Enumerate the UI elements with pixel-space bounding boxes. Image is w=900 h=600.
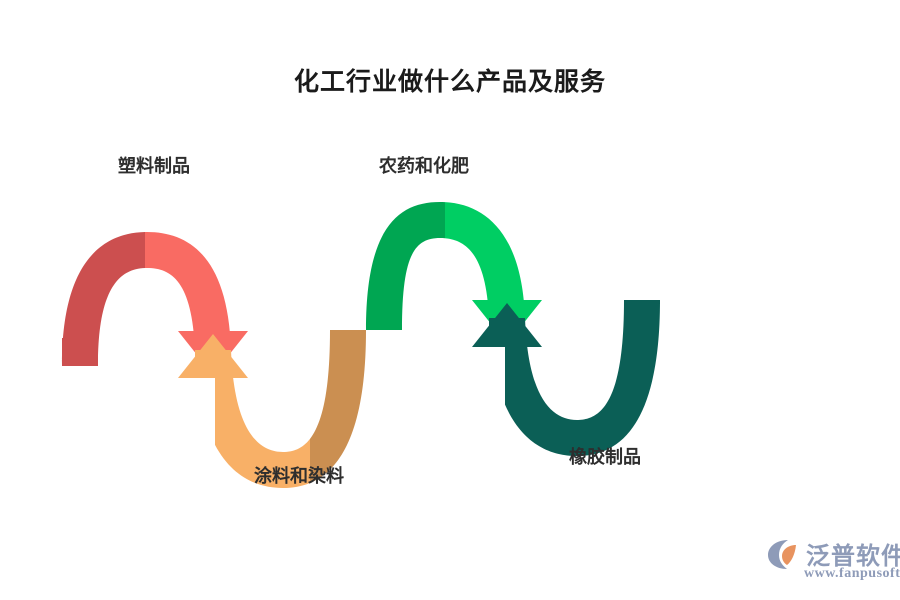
coating-arrow-shaft-joint (195, 350, 231, 378)
plastic-tail-foot (62, 338, 98, 366)
brand-url: www.fanpusoft.com (804, 566, 900, 582)
rubber-tail-cap (624, 300, 660, 304)
wave-label-rubber: 橡胶制品 (569, 443, 641, 469)
wave-process-diagram (0, 0, 900, 600)
infographic-canvas: 化工行业做什么产品及服务 (0, 0, 900, 600)
rubber-arrow-shaft-joint (489, 318, 525, 347)
segment-rubber (472, 300, 660, 456)
wave-label-pesticide: 农药和化肥 (379, 152, 469, 178)
brand-watermark: 泛普软件 www.fanpusoft.com (766, 534, 894, 586)
wave-label-coating: 涂料和染料 (254, 462, 344, 488)
fanpu-logo-icon (766, 538, 802, 570)
wave-label-plastic: 塑料制品 (118, 152, 190, 178)
